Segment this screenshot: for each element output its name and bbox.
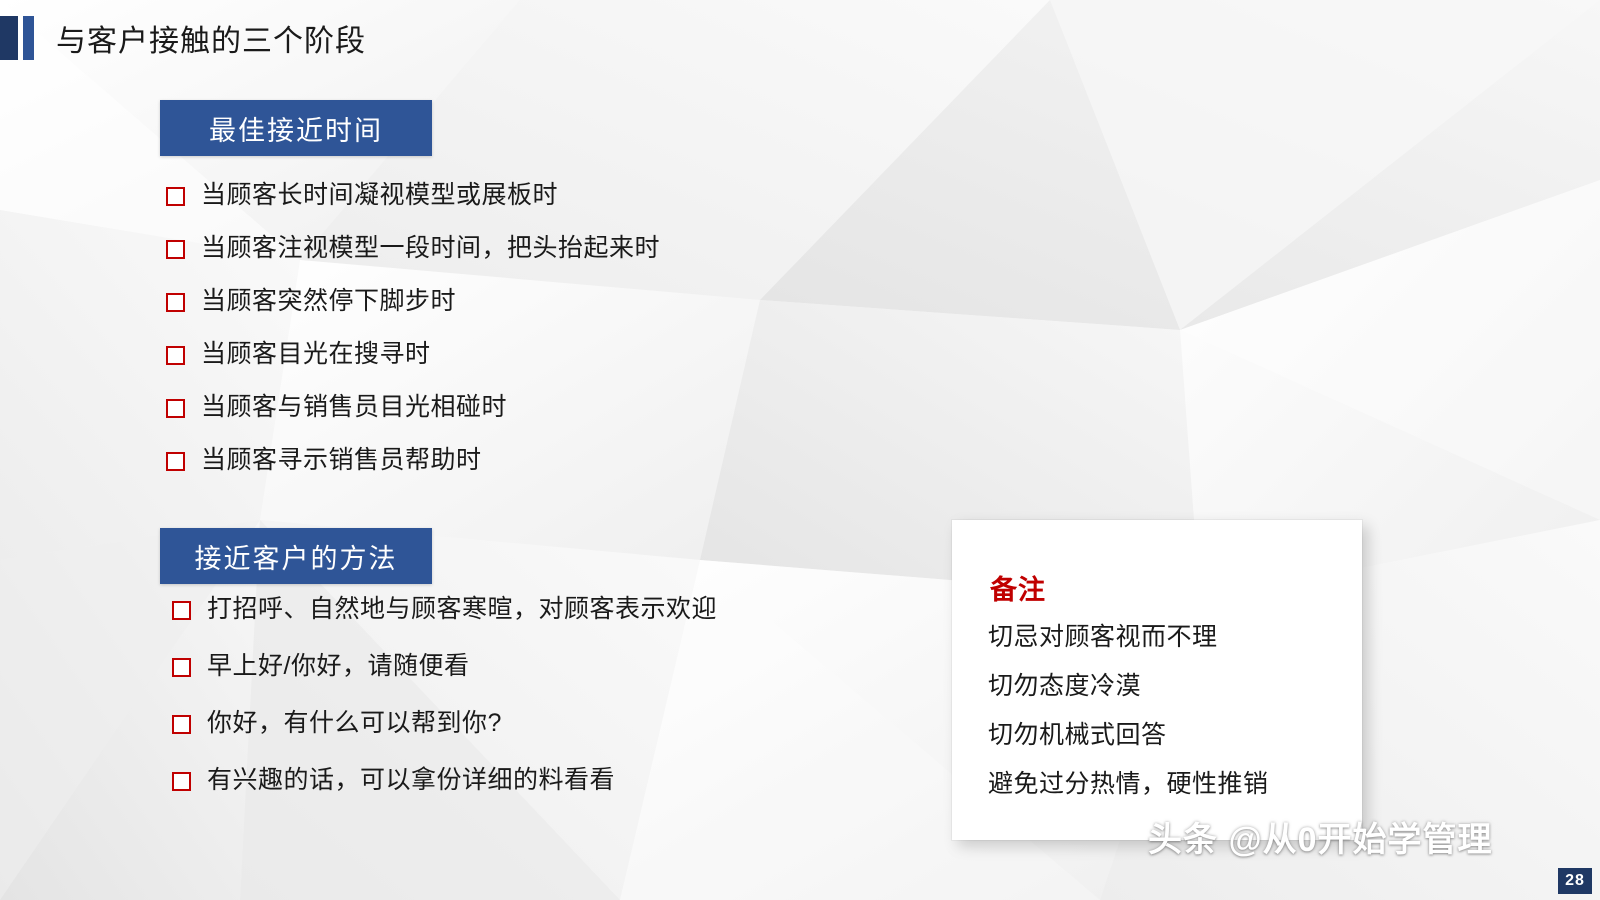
bullet-text: 当顾客寻示销售员帮助时 xyxy=(201,443,482,477)
square-bullet-icon xyxy=(166,346,185,365)
list-item: 当顾客突然停下脚步时 xyxy=(166,284,660,318)
section-header-best-time: 最佳接近时间 xyxy=(160,100,432,156)
bullet-text: 打招呼、自然地与顾客寒暄，对顾客表示欢迎 xyxy=(207,592,717,626)
bullet-text: 当顾客长时间凝视模型或展板时 xyxy=(201,178,558,212)
bullet-list-approach-method: 打招呼、自然地与顾客寒暄，对顾客表示欢迎 早上好/你好，请随便看 你好，有什么可… xyxy=(172,592,717,820)
square-bullet-icon xyxy=(166,399,185,418)
square-bullet-icon xyxy=(172,715,191,734)
list-item: 当顾客寻示销售员帮助时 xyxy=(166,443,660,477)
bullet-text: 当顾客突然停下脚步时 xyxy=(201,284,456,318)
slide-title-row: 与客户接触的三个阶段 xyxy=(0,10,366,66)
bullet-text: 早上好/你好，请随便看 xyxy=(207,649,469,683)
bullet-list-best-time: 当顾客长时间凝视模型或展板时 当顾客注视模型一段时间，把头抬起来时 当顾客突然停… xyxy=(166,178,660,496)
list-item: 当顾客长时间凝视模型或展板时 xyxy=(166,178,660,212)
list-item: 早上好/你好，请随便看 xyxy=(172,649,717,683)
watermark-text: 头条 @从0开始学管理 xyxy=(1148,812,1493,861)
list-item: 有兴趣的话，可以拿份详细的料看看 xyxy=(172,763,717,797)
square-bullet-icon xyxy=(166,293,185,312)
list-item: 你好，有什么可以帮到你? xyxy=(172,706,717,740)
list-item: 打招呼、自然地与顾客寒暄，对顾客表示欢迎 xyxy=(172,592,717,626)
bullet-text: 你好，有什么可以帮到你? xyxy=(207,706,502,740)
list-item: 当顾客目光在搜寻时 xyxy=(166,337,660,371)
section-header-approach-method: 接近客户的方法 xyxy=(160,528,432,584)
bullet-text: 当顾客与销售员目光相碰时 xyxy=(201,390,507,424)
note-list-item: 切忌对顾客视而不理 xyxy=(988,622,1269,652)
square-bullet-icon xyxy=(172,772,191,791)
square-bullet-icon xyxy=(166,240,185,259)
bullet-text: 当顾客注视模型一段时间，把头抬起来时 xyxy=(201,231,660,265)
note-list: 切忌对顾客视而不理 切勿态度冷漠 切勿机械式回答 避免过分热情，硬性推销 xyxy=(988,622,1269,818)
list-item: 当顾客注视模型一段时间，把头抬起来时 xyxy=(166,231,660,265)
bullet-text: 当顾客目光在搜寻时 xyxy=(201,337,431,371)
square-bullet-icon xyxy=(172,601,191,620)
note-list-item: 避免过分热情，硬性推销 xyxy=(988,769,1269,799)
title-accent-block-1 xyxy=(0,16,18,60)
bullet-text: 有兴趣的话，可以拿份详细的料看看 xyxy=(207,763,615,797)
list-item: 当顾客与销售员目光相碰时 xyxy=(166,390,660,424)
page-number-badge: 28 xyxy=(1558,868,1592,894)
note-title: 备注 xyxy=(990,568,1046,607)
square-bullet-icon xyxy=(166,187,185,206)
square-bullet-icon xyxy=(166,452,185,471)
note-panel: 备注 切忌对顾客视而不理 切勿态度冷漠 切勿机械式回答 避免过分热情，硬性推销 xyxy=(952,520,1362,840)
square-bullet-icon xyxy=(172,658,191,677)
title-accent-block-2 xyxy=(23,16,34,60)
page-title: 与客户接触的三个阶段 xyxy=(56,16,366,60)
slide-canvas: 与客户接触的三个阶段 最佳接近时间 当顾客长时间凝视模型或展板时 当顾客注视模型… xyxy=(0,0,1600,900)
note-list-item: 切勿态度冷漠 xyxy=(988,671,1269,701)
note-list-item: 切勿机械式回答 xyxy=(988,720,1269,750)
